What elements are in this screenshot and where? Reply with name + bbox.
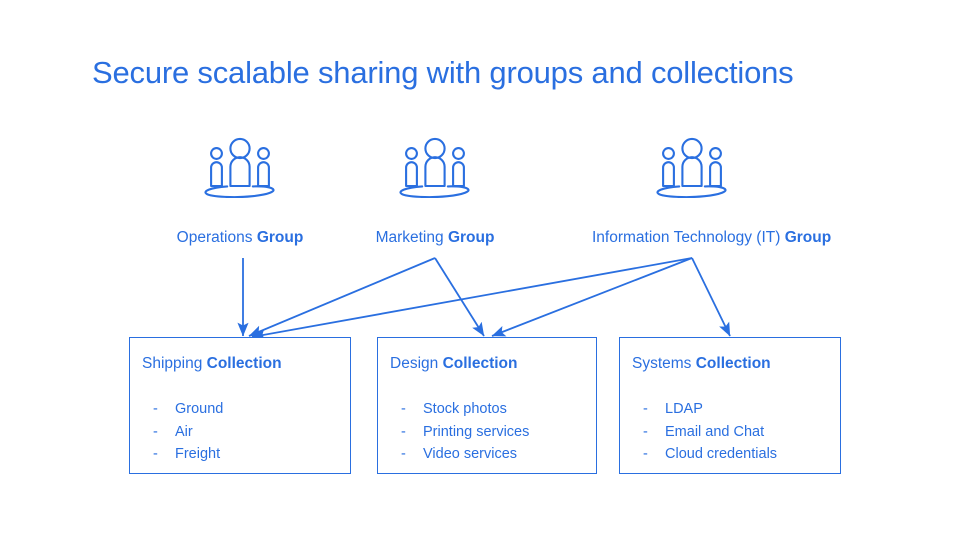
list-item: -LDAP xyxy=(632,398,834,421)
bullet-dash: - xyxy=(390,421,423,444)
collection-item-list: -LDAP -Email and Chat -Cloud credentials xyxy=(632,398,834,466)
bullet-dash: - xyxy=(142,398,175,421)
group-label: Operations Group xyxy=(140,228,340,248)
arrow-it-to-design xyxy=(492,258,692,336)
group-operations[interactable]: Operations Group xyxy=(140,136,340,248)
list-item-label: Stock photos xyxy=(423,401,507,417)
collection-title-strong: Collection xyxy=(696,355,771,372)
list-item-label: Cloud credentials xyxy=(665,446,777,462)
bullet-dash: - xyxy=(142,421,175,444)
collection-title: Systems Collection xyxy=(632,354,771,374)
collection-shipping[interactable]: Shipping Collection -Ground -Air -Freigh… xyxy=(129,337,351,474)
collection-title: Shipping Collection xyxy=(142,354,282,374)
people-group-icon xyxy=(194,136,286,198)
list-item-label: Video services xyxy=(423,446,517,462)
collection-title-prefix: Design xyxy=(390,355,443,372)
arrow-it-to-shipping xyxy=(252,258,692,337)
collection-title-strong: Collection xyxy=(207,355,282,372)
bullet-dash: - xyxy=(632,443,665,466)
group-label-strong: Group xyxy=(785,229,832,246)
arrow-it-to-systems xyxy=(692,258,730,336)
page-title: Secure scalable sharing with groups and … xyxy=(92,53,892,93)
collection-title: Design Collection xyxy=(390,354,517,374)
group-marketing[interactable]: Marketing Group xyxy=(335,136,535,248)
bullet-dash: - xyxy=(142,443,175,466)
list-item: -Video services xyxy=(390,443,590,466)
collection-item-list: -Stock photos -Printing services -Video … xyxy=(390,398,590,466)
bullet-dash: - xyxy=(632,421,665,444)
group-label-prefix: Information Technology (IT) xyxy=(592,229,785,246)
list-item: -Printing services xyxy=(390,421,590,444)
list-item: -Cloud credentials xyxy=(632,443,834,466)
list-item: -Air xyxy=(142,421,344,444)
arrow-marketing-to-design xyxy=(435,258,484,336)
group-label-prefix: Marketing xyxy=(376,229,448,246)
collection-systems[interactable]: Systems Collection -LDAP -Email and Chat… xyxy=(619,337,841,474)
people-group-icon xyxy=(389,136,481,198)
collection-title-prefix: Systems xyxy=(632,355,696,372)
bullet-dash: - xyxy=(390,443,423,466)
group-label-strong: Group xyxy=(448,229,495,246)
group-label-prefix: Operations xyxy=(177,229,257,246)
bullet-dash: - xyxy=(632,398,665,421)
collection-design[interactable]: Design Collection -Stock photos -Printin… xyxy=(377,337,597,474)
list-item-label: LDAP xyxy=(665,401,703,417)
bullet-dash: - xyxy=(390,398,423,421)
group-information-technology[interactable]: Information Technology (IT) Group xyxy=(592,136,792,248)
arrow-marketing-to-shipping xyxy=(249,258,435,336)
group-label-strong: Group xyxy=(257,229,304,246)
list-item-label: Email and Chat xyxy=(665,424,764,440)
group-label: Information Technology (IT) Group xyxy=(592,228,792,248)
collection-item-list: -Ground -Air -Freight xyxy=(142,398,344,466)
list-item-label: Freight xyxy=(175,446,220,462)
collection-title-prefix: Shipping xyxy=(142,355,207,372)
collection-title-strong: Collection xyxy=(443,355,518,372)
list-item: -Ground xyxy=(142,398,344,421)
list-item-label: Ground xyxy=(175,401,223,417)
list-item-label: Air xyxy=(175,424,193,440)
list-item-label: Printing services xyxy=(423,424,529,440)
group-label: Marketing Group xyxy=(335,228,535,248)
list-item: -Freight xyxy=(142,443,344,466)
list-item: -Email and Chat xyxy=(632,421,834,444)
list-item: -Stock photos xyxy=(390,398,590,421)
slide-canvas: Secure scalable sharing with groups and … xyxy=(0,0,960,540)
people-group-icon xyxy=(646,136,738,198)
